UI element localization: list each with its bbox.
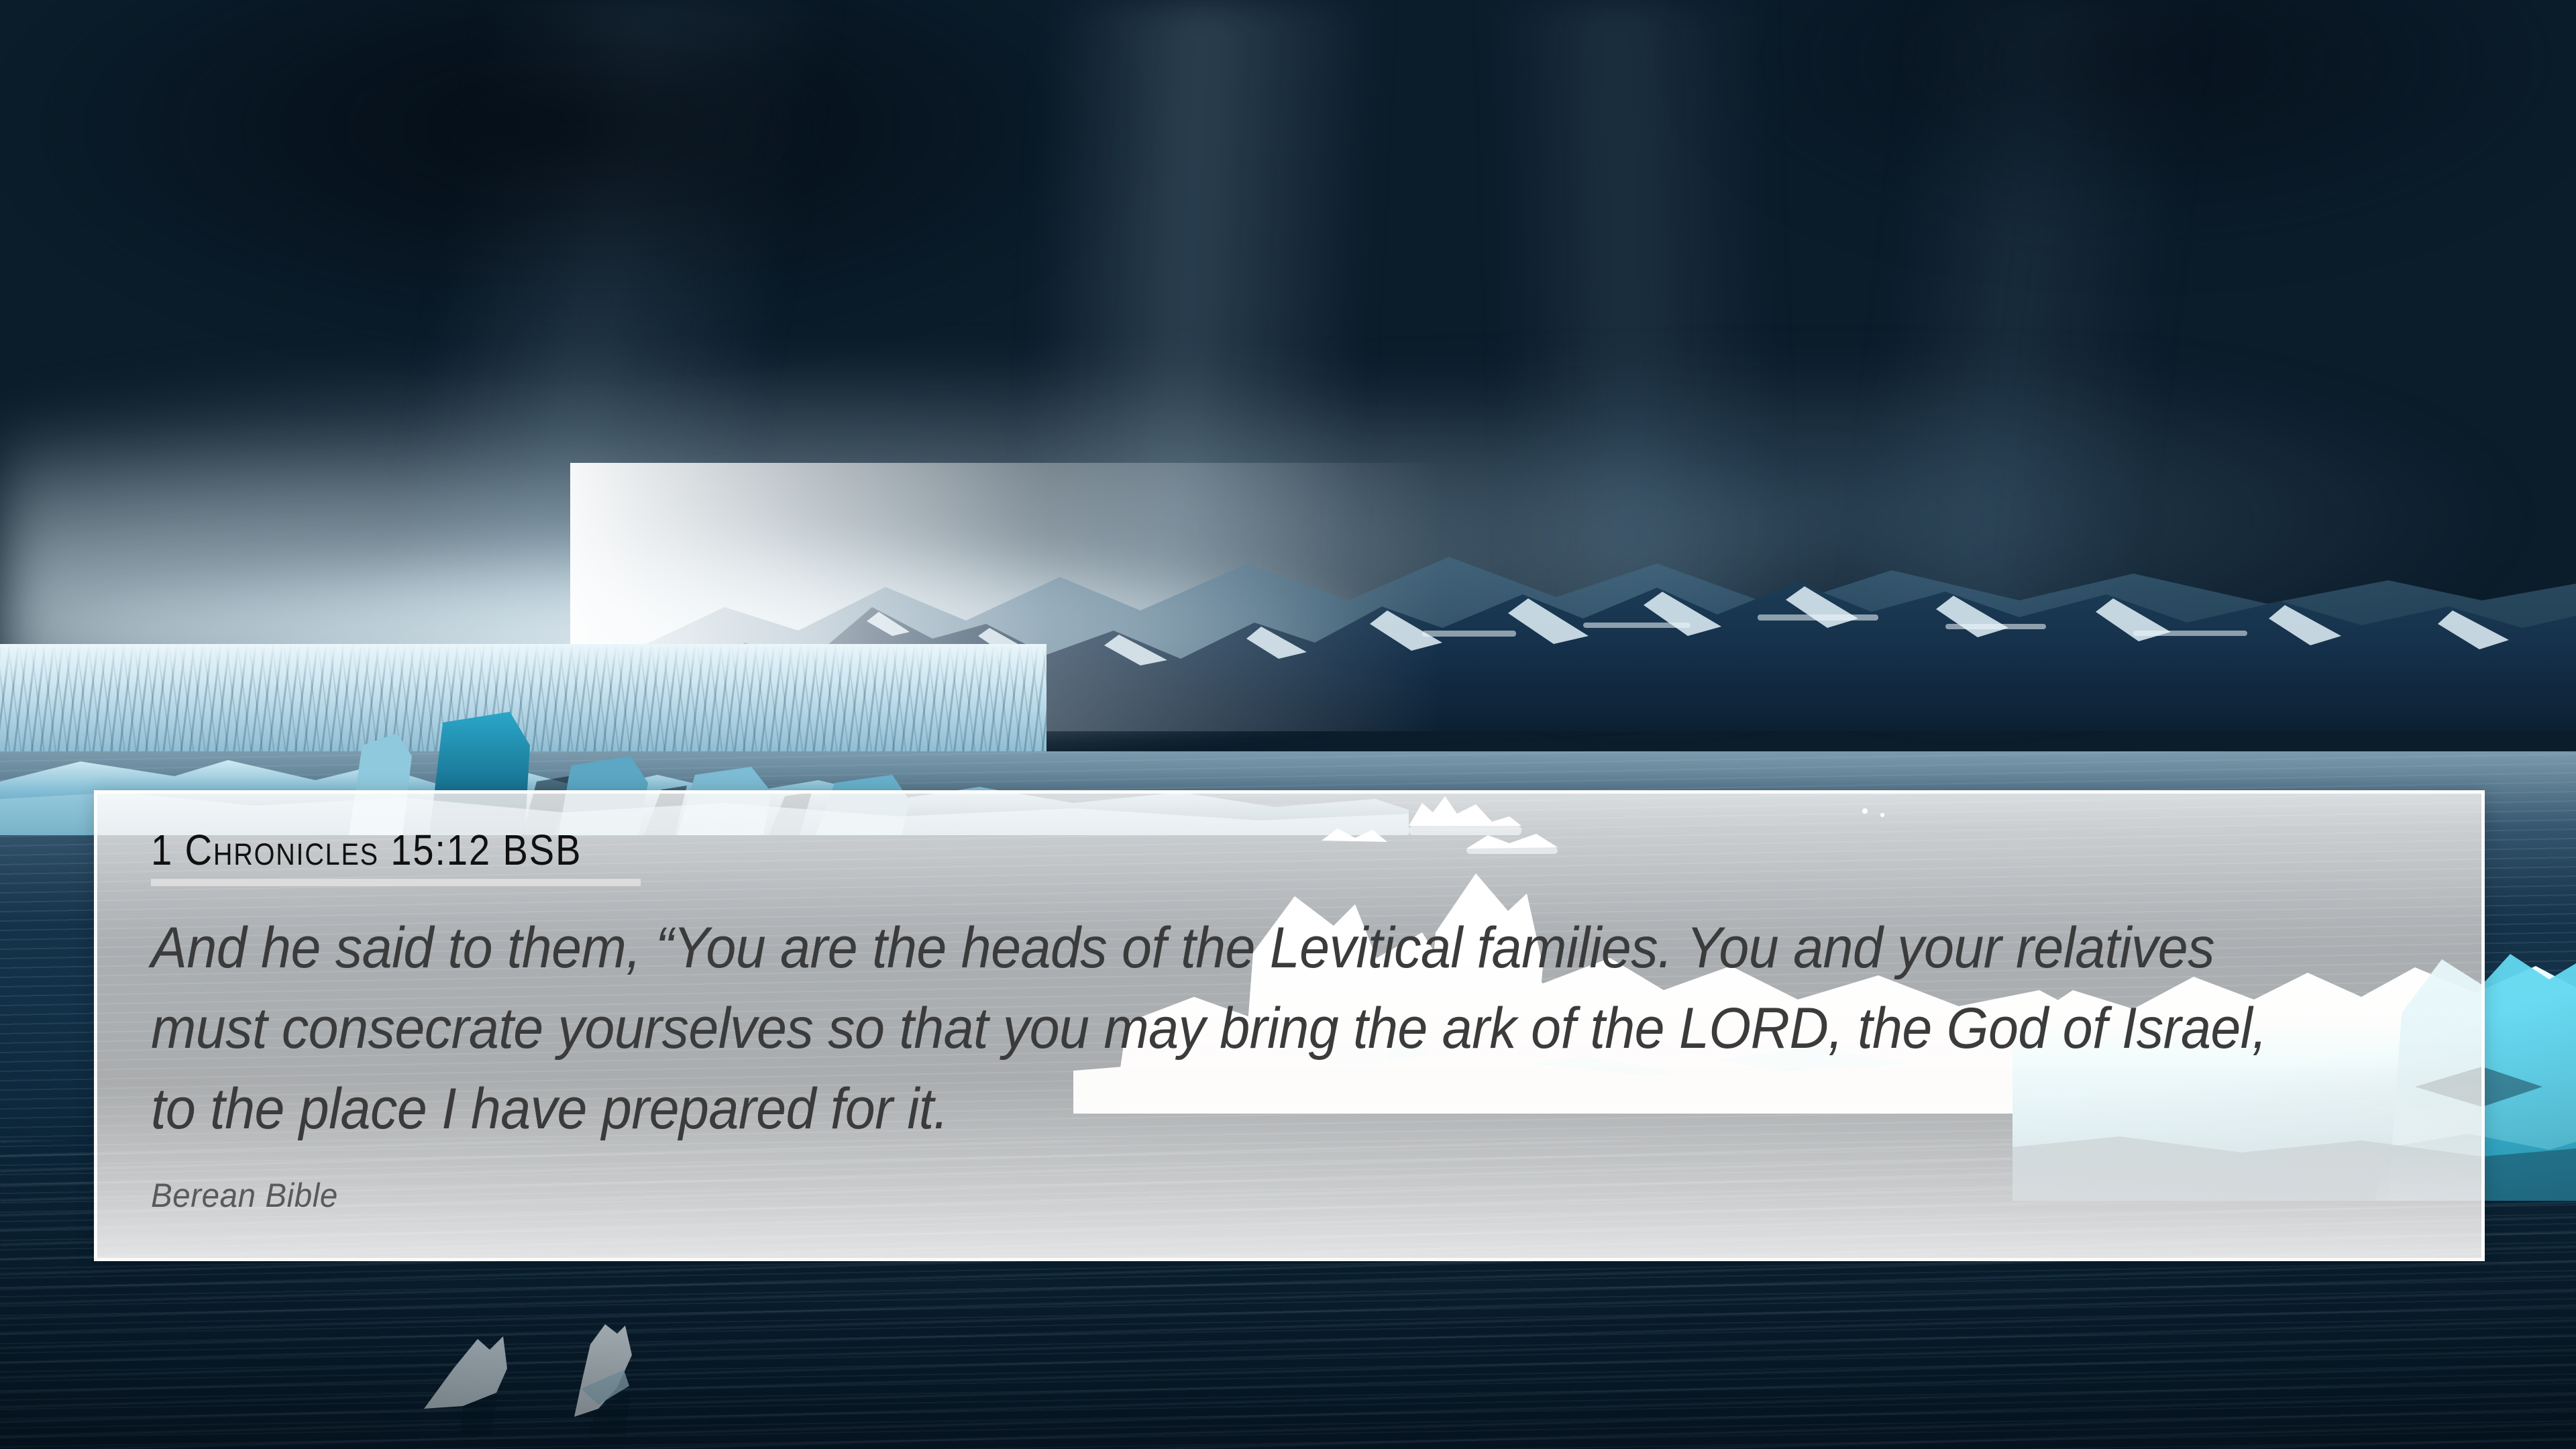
verse-card-content: 1 Chronicles 15:12 BSB And he said to th… <box>151 827 2441 1214</box>
sky-dark-corner-left <box>0 0 1342 429</box>
verse-attribution: Berean Bible <box>151 1177 2326 1214</box>
verse-text: And he said to them, “You are the heads … <box>151 908 2304 1149</box>
verse-reference-block: 1 Chronicles 15:12 BSB <box>151 827 641 886</box>
verse-reference-underline <box>151 879 641 886</box>
sky-dark-corner-right <box>1503 0 2576 322</box>
verse-reference: 1 Chronicles 15:12 BSB <box>151 827 582 873</box>
verse-wallpaper: 1 Chronicles 15:12 BSB And he said to th… <box>0 0 2576 1449</box>
verse-overlay-card: 1 Chronicles 15:12 BSB And he said to th… <box>94 790 2485 1261</box>
